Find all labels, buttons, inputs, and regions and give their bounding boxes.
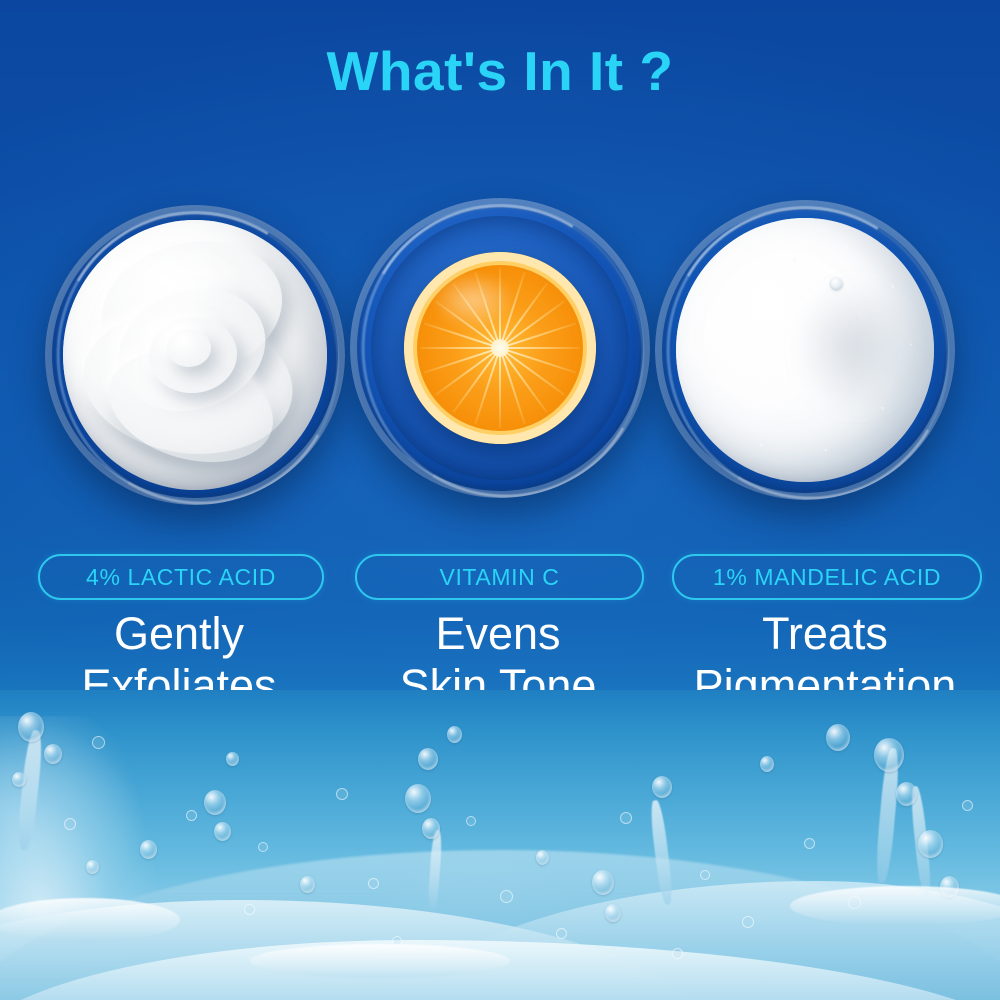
water-droplet	[418, 748, 438, 770]
cream-swirl-peak	[167, 329, 211, 367]
water-droplet	[44, 744, 62, 764]
water-droplet	[12, 772, 26, 787]
ingredient-image-lactic-acid	[45, 205, 345, 505]
water-bubble	[500, 890, 513, 903]
orange-highlight	[431, 271, 515, 329]
benefit-line: Gently	[29, 608, 329, 660]
water-droplet	[592, 870, 614, 895]
water-droplet	[918, 830, 943, 858]
water-bubble	[64, 818, 76, 830]
water-bubble	[258, 842, 268, 852]
water-droplet	[405, 784, 431, 813]
water-droplet	[536, 850, 549, 865]
water-droplet	[140, 840, 157, 859]
water-splash-graphic	[0, 690, 1000, 1000]
water-bubble	[368, 878, 379, 889]
water-droplet	[214, 822, 231, 841]
water-bubble	[620, 812, 632, 824]
water-bubble	[804, 838, 815, 849]
ingredient-badge-vitamin-c: VITAMIN C	[355, 554, 644, 600]
water-bubble	[244, 904, 255, 915]
water-bubble	[742, 916, 754, 928]
benefit-line: Evens	[348, 608, 648, 660]
water-droplet	[204, 790, 226, 815]
water-droplet	[86, 860, 99, 874]
water-droplet	[896, 782, 917, 806]
water-bubble	[700, 870, 710, 880]
water-droplet	[18, 712, 44, 742]
water-droplet	[760, 756, 774, 772]
water-droplet	[226, 752, 239, 766]
water-bubble	[556, 928, 567, 939]
water-bubble	[672, 948, 683, 959]
water-droplet	[826, 724, 850, 751]
powder-shadow	[793, 278, 919, 416]
water-bubble	[336, 788, 348, 800]
water-droplet	[874, 738, 904, 772]
orange-slice-icon	[404, 252, 596, 444]
benefit-line: Treats	[665, 608, 985, 660]
water-bubble	[962, 800, 973, 811]
cream-highlight	[111, 241, 249, 319]
ingredient-image-vitamin-c	[350, 198, 650, 498]
water-droplet	[447, 726, 462, 743]
powder-bead	[831, 278, 842, 289]
ingredient-badge-lactic-acid: 4% LACTIC ACID	[38, 554, 324, 600]
water-droplet	[605, 904, 621, 922]
water-bubble	[92, 736, 105, 749]
water-droplet	[422, 818, 440, 839]
water-crest	[250, 944, 510, 978]
ingredient-image-mandelic-acid	[655, 200, 955, 500]
water-droplet	[652, 776, 672, 798]
product-ingredient-infographic: What's In It ?	[0, 0, 1000, 1000]
water-bubble	[186, 810, 197, 821]
water-droplet	[300, 876, 315, 893]
water-bubble	[466, 816, 476, 826]
ingredient-badge-mandelic-acid: 1% MANDELIC ACID	[672, 554, 982, 600]
